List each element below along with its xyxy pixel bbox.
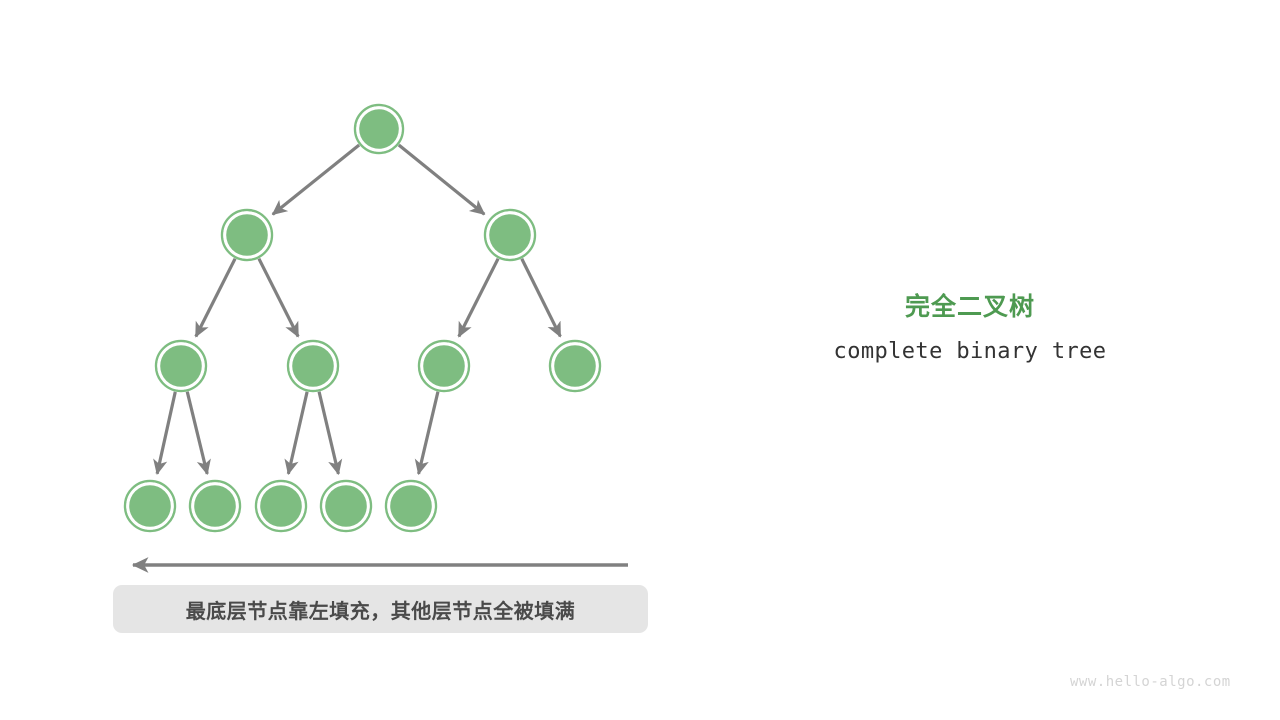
tree-node[interactable]: [386, 481, 436, 531]
watermark: www.hello-algo.com: [1070, 674, 1231, 690]
node-core: [160, 345, 202, 387]
tree-node[interactable]: [256, 481, 306, 531]
node-core: [359, 109, 399, 149]
legend-title: 完全二叉树: [760, 290, 1180, 324]
tree-node[interactable]: [355, 105, 403, 153]
node-core: [292, 345, 334, 387]
tree-node[interactable]: [550, 341, 600, 391]
tree-edges: [157, 145, 560, 474]
tree-edge: [259, 259, 298, 337]
tree-edge: [196, 259, 235, 337]
node-core: [129, 485, 171, 527]
tree-edge: [288, 392, 307, 474]
tree-node[interactable]: [190, 481, 240, 531]
node-core: [226, 214, 268, 256]
caption-box: 最底层节点靠左填充，其他层节点全被填满: [113, 585, 648, 633]
tree-edge: [419, 392, 438, 474]
tree-edge: [399, 145, 485, 214]
tree-edge: [273, 145, 359, 214]
legend-subtitle: complete binary tree: [760, 338, 1180, 366]
tree-edge: [187, 392, 207, 474]
node-core: [260, 485, 302, 527]
node-core: [325, 485, 367, 527]
tree-node[interactable]: [288, 341, 338, 391]
tree-edge: [319, 392, 338, 474]
node-core: [554, 345, 596, 387]
legend-block: 完全二叉树 complete binary tree: [760, 290, 1180, 366]
node-core: [194, 485, 236, 527]
tree-node[interactable]: [419, 341, 469, 391]
tree-nodes: [125, 105, 600, 531]
tree-node[interactable]: [125, 481, 175, 531]
tree-node[interactable]: [321, 481, 371, 531]
tree-node[interactable]: [156, 341, 206, 391]
tree-node[interactable]: [485, 210, 535, 260]
tree-edge: [157, 392, 175, 474]
tree-edge: [522, 259, 561, 337]
node-core: [423, 345, 465, 387]
node-core: [390, 485, 432, 527]
tree-node[interactable]: [222, 210, 272, 260]
caption-text: 最底层节点靠左填充，其他层节点全被填满: [186, 595, 576, 624]
node-core: [489, 214, 531, 256]
tree-edge: [459, 259, 498, 337]
